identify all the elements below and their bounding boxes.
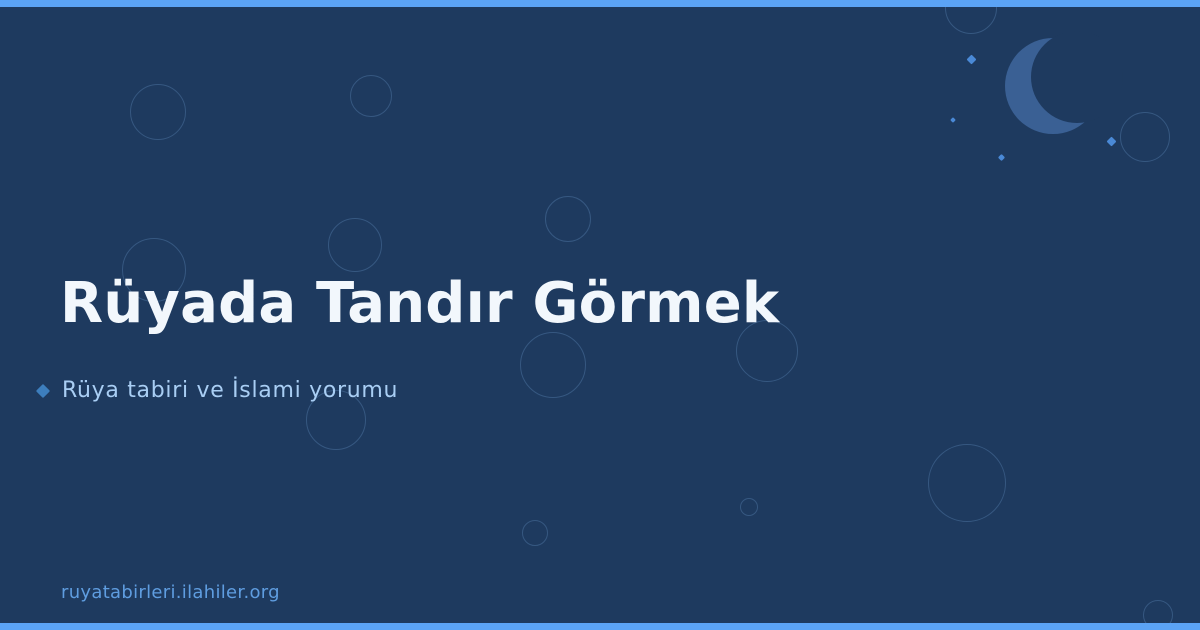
page-title: Rüyada Tandır Görmek [60,273,779,335]
bottom-accent-strip [0,623,1200,630]
top-accent-strip [0,0,1200,7]
site-url: ruyatabirleri.ilahiler.org [61,582,280,603]
page-subtitle: Rüya tabiri ve İslami yorumu [62,378,398,403]
banner-content: Rüyada Tandır Görmek Rüya tabiri ve İsla… [0,0,1200,630]
social-share-banner: Rüyada Tandır Görmek Rüya tabiri ve İsla… [0,0,1200,630]
diamond-bullet-icon [36,383,50,397]
subtitle-row: Rüya tabiri ve İslami yorumu [38,378,398,403]
